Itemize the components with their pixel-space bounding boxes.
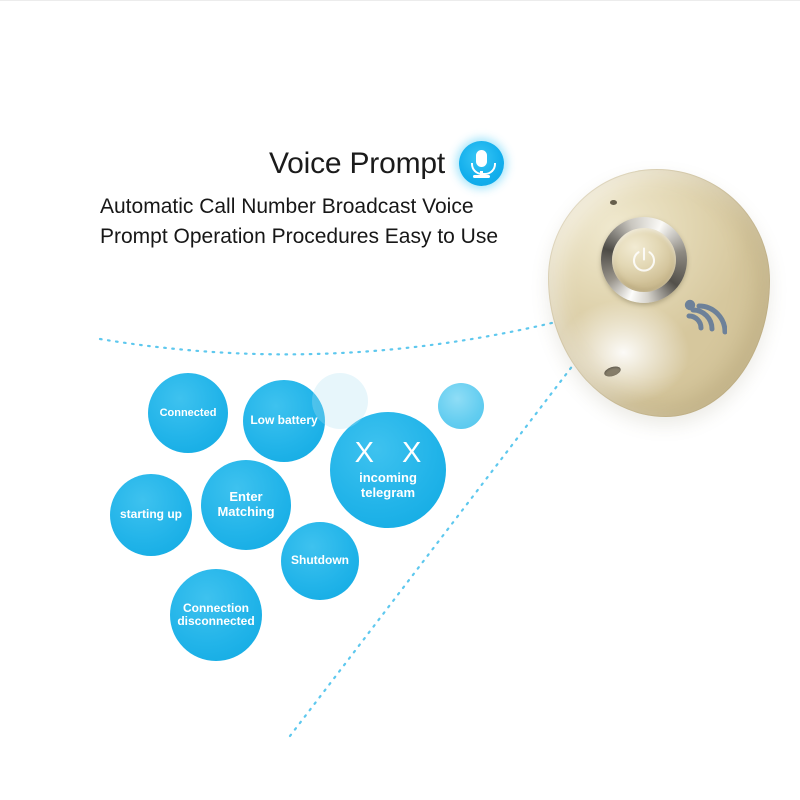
bubble-incoming-telegram: X Xincomingtelegram — [330, 412, 446, 528]
infographic-canvas: Voice Prompt Automatic Call Number Broad… — [0, 0, 800, 800]
bubble-accent-bubble — [438, 383, 484, 429]
bubble-label-line: Enter — [217, 490, 274, 505]
bubble-label: Connected — [160, 407, 217, 419]
page-title: Voice Prompt — [269, 147, 445, 181]
header-block: Voice Prompt Automatic Call Number Broad… — [100, 141, 540, 253]
bubble-label-line: Low battery — [250, 414, 317, 427]
microphone-hole-icon — [610, 200, 617, 205]
bubble-shutdown: Shutdown — [281, 522, 359, 600]
sound-wave-icon — [679, 294, 727, 342]
bubble-label-line: Shutdown — [291, 554, 349, 567]
bubble-connection-disconnected: Connectiondisconnected — [170, 569, 262, 661]
bubble-enter-matching: EnterMatching — [201, 460, 291, 550]
bubble-label-line: telegram — [345, 486, 432, 501]
bubble-label-line: Connected — [160, 407, 217, 419]
bubble-label-line: Connection — [177, 602, 254, 615]
microphone-icon — [459, 141, 504, 186]
bubble-label-line: starting up — [120, 508, 182, 521]
connector-line-upper — [100, 321, 560, 354]
bubble-label: Connectiondisconnected — [177, 602, 254, 629]
bubble-label: EnterMatching — [217, 490, 274, 519]
power-icon — [629, 245, 659, 275]
bubble-connected: Connected — [148, 373, 228, 453]
power-button[interactable] — [601, 217, 687, 303]
bubble-caller-placeholder: X X — [345, 439, 432, 468]
microphone-cradle — [471, 163, 496, 175]
wireless-earbud-product — [548, 169, 770, 417]
subtitle-line-2: Prompt Operation Procedures Easy to Use — [100, 222, 540, 252]
bubble-label-line: disconnected — [177, 615, 254, 628]
bubble-label: starting up — [120, 508, 182, 521]
bubble-label: X Xincomingtelegram — [345, 439, 432, 501]
bubble-label: Low battery — [250, 414, 317, 427]
bubble-ghost-bubble — [312, 373, 368, 429]
bubble-label-line: incoming — [345, 471, 432, 486]
microphone-base — [473, 175, 490, 178]
bubble-label: Shutdown — [291, 554, 349, 567]
subtitle-line-1: Automatic Call Number Broadcast Voice — [100, 192, 540, 222]
subtitle: Automatic Call Number Broadcast Voice Pr… — [100, 192, 540, 253]
bubble-starting-up: starting up — [110, 474, 192, 556]
bubble-label-line: Matching — [217, 505, 274, 520]
title-row: Voice Prompt — [100, 141, 540, 186]
